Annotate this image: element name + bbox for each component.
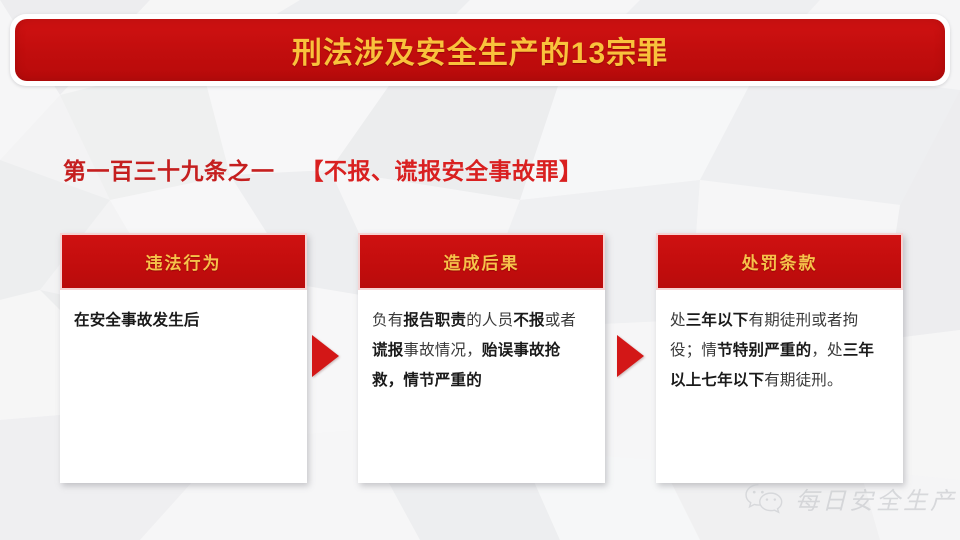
card-violation-header: 违法行为 — [60, 233, 307, 290]
card-penalty-body: 处三年以下有期徒刑或者拘役；情节特别严重的，处三年以上七年以下有期徒刑。 — [656, 290, 903, 407]
text-run: 的人员 — [466, 312, 513, 329]
card-violation: 违法行为 在安全事故发生后 — [60, 233, 307, 483]
card-violation-body: 在安全事故发生后 — [60, 290, 307, 346]
text-run: 三年以下 — [686, 312, 749, 329]
card-consequence-header: 造成后果 — [358, 233, 605, 290]
text-run: 节特别严重的 — [717, 342, 811, 359]
title-banner-inner: 刑法涉及安全生产的13宗罪 — [15, 19, 945, 81]
card-violation-header-label: 违法行为 — [146, 249, 222, 274]
arrow-consequence-to-penalty-icon — [617, 335, 644, 377]
card-consequence: 造成后果 负有报告职责的人员不报或者谎报事故情况，贻误事故抢救，情节严重的 — [358, 233, 605, 483]
text-run: 不报 — [513, 312, 544, 329]
text-run: 事故情况， — [403, 342, 482, 359]
card-consequence-body: 负有报告职责的人员不报或者谎报事故情况，贻误事故抢救，情节严重的 — [358, 290, 605, 407]
page-title: 刑法涉及安全生产的13宗罪 — [292, 28, 668, 72]
text-run: 处 — [670, 312, 686, 329]
text-run: 或者 — [545, 312, 576, 329]
subtitle-article: 第一百三十九条之一 — [63, 158, 275, 184]
title-banner: 刑法涉及安全生产的13宗罪 — [10, 14, 950, 86]
card-penalty-header: 处罚条款 — [656, 233, 903, 290]
watermark: 每日安全生产 — [744, 481, 957, 516]
subtitle: 第一百三十九条之一【不报、谎报安全事故罪】 — [63, 152, 583, 186]
text-run: 有期徒刑。 — [764, 372, 843, 389]
card-penalty-header-label: 处罚条款 — [742, 249, 818, 274]
arrow-violation-to-consequence-icon — [312, 335, 339, 377]
card-consequence-header-label: 造成后果 — [444, 249, 520, 274]
text-run: 在安全事故发生后 — [74, 312, 200, 329]
text-run: 报告职责 — [403, 312, 466, 329]
slide-canvas: 刑法涉及安全生产的13宗罪 第一百三十九条之一【不报、谎报安全事故罪】 违法行为… — [0, 0, 960, 540]
text-run: 负有 — [372, 312, 403, 329]
subtitle-crime-name: 【不报、谎报安全事故罪】 — [301, 158, 583, 184]
text-run: ，处 — [811, 342, 842, 359]
card-penalty: 处罚条款 处三年以下有期徒刑或者拘役；情节特别严重的，处三年以上七年以下有期徒刑… — [656, 233, 903, 483]
text-run: 谎报 — [372, 342, 403, 359]
wechat-icon — [744, 482, 786, 516]
watermark-text: 每日安全生产 — [795, 481, 957, 516]
